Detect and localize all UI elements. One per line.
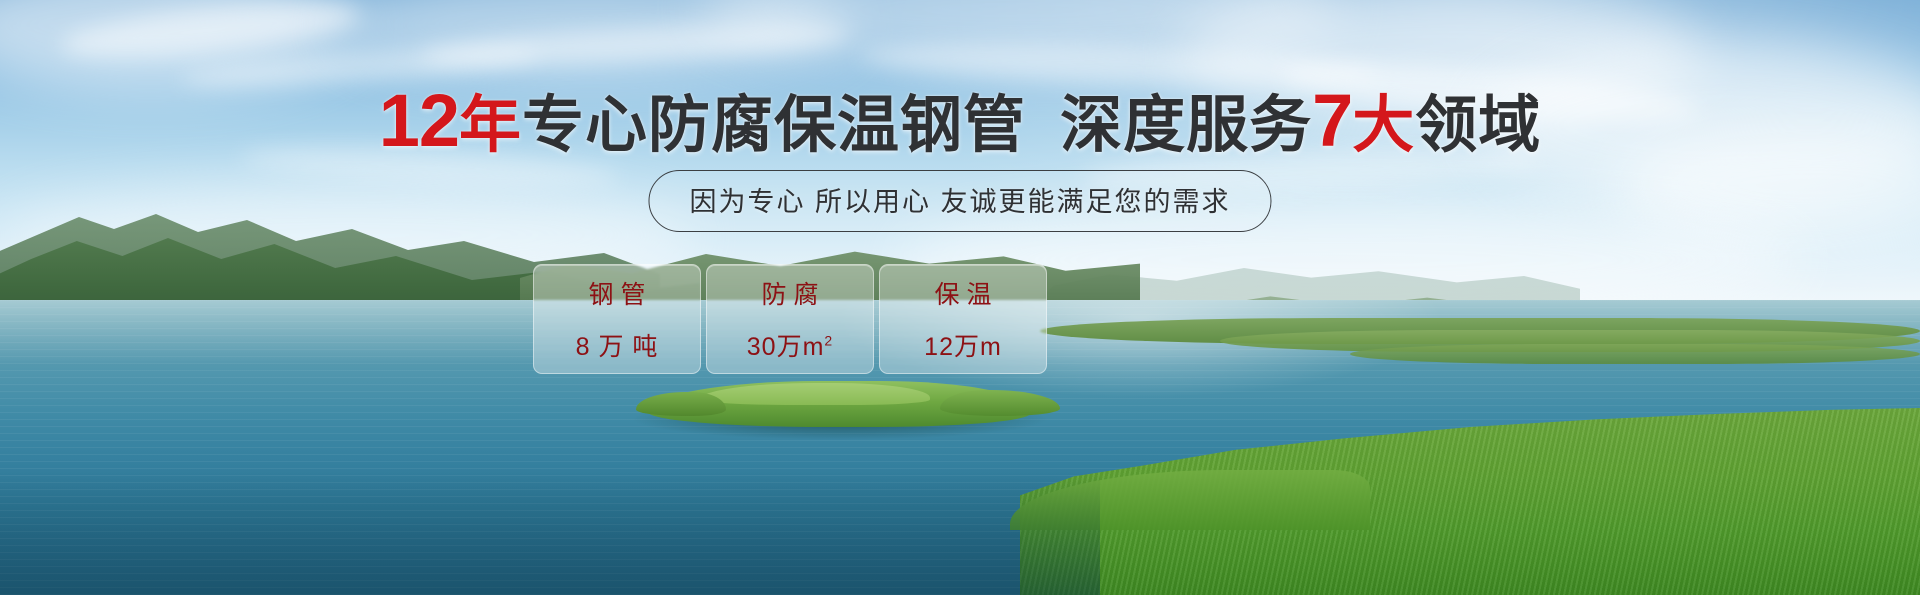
headline-middle-text: 专心防腐保温钢管 xyxy=(522,91,1026,160)
headline-seven-number: 7 xyxy=(1312,79,1352,162)
stat-value-text: 8 万 吨 xyxy=(576,333,659,361)
stat-label: 防腐 xyxy=(754,275,825,311)
water-vignette xyxy=(0,470,1100,595)
stat-card-insulation[interactable]: 保温 12万m xyxy=(879,264,1047,374)
headline-field-text: 领域 xyxy=(1415,91,1541,160)
stat-value-text: 30万m xyxy=(747,333,825,361)
headline-years-unit: 年 xyxy=(459,91,522,160)
stat-card-steel-pipe[interactable]: 钢管 8 万 吨 xyxy=(533,264,701,374)
stat-label: 钢管 xyxy=(581,275,652,311)
headline-service-text: 深度服务 xyxy=(1060,91,1312,160)
stat-value-superscript: 2 xyxy=(824,333,833,349)
stat-value: 12万m xyxy=(924,327,1002,363)
subtitle-pill: 因为专心 所以用心 友诚更能满足您的需求 xyxy=(648,170,1271,232)
promo-banner: 12年专心防腐保温钢管深度服务7大领域 因为专心 所以用心 友诚更能满足您的需求… xyxy=(0,0,1920,595)
stat-value: 8 万 吨 xyxy=(576,327,659,363)
stat-card-anticorrosion[interactable]: 防腐 30万m2 xyxy=(706,264,874,374)
stat-value: 30万m2 xyxy=(747,327,833,363)
marsh-strip-right-3 xyxy=(1350,344,1920,364)
headline-years-number: 12 xyxy=(379,79,459,162)
headline-big-char: 大 xyxy=(1352,91,1415,160)
subtitle-text: 因为专心 所以用心 友诚更能满足您的需求 xyxy=(689,187,1230,217)
stat-value-text: 12万m xyxy=(924,333,1002,361)
stat-label: 保温 xyxy=(927,275,998,311)
stat-card-group: 钢管 8 万 吨 防腐 30万m2 保温 12万m xyxy=(533,264,1047,374)
page-title: 12年专心防腐保温钢管深度服务7大领域 xyxy=(0,84,1920,158)
